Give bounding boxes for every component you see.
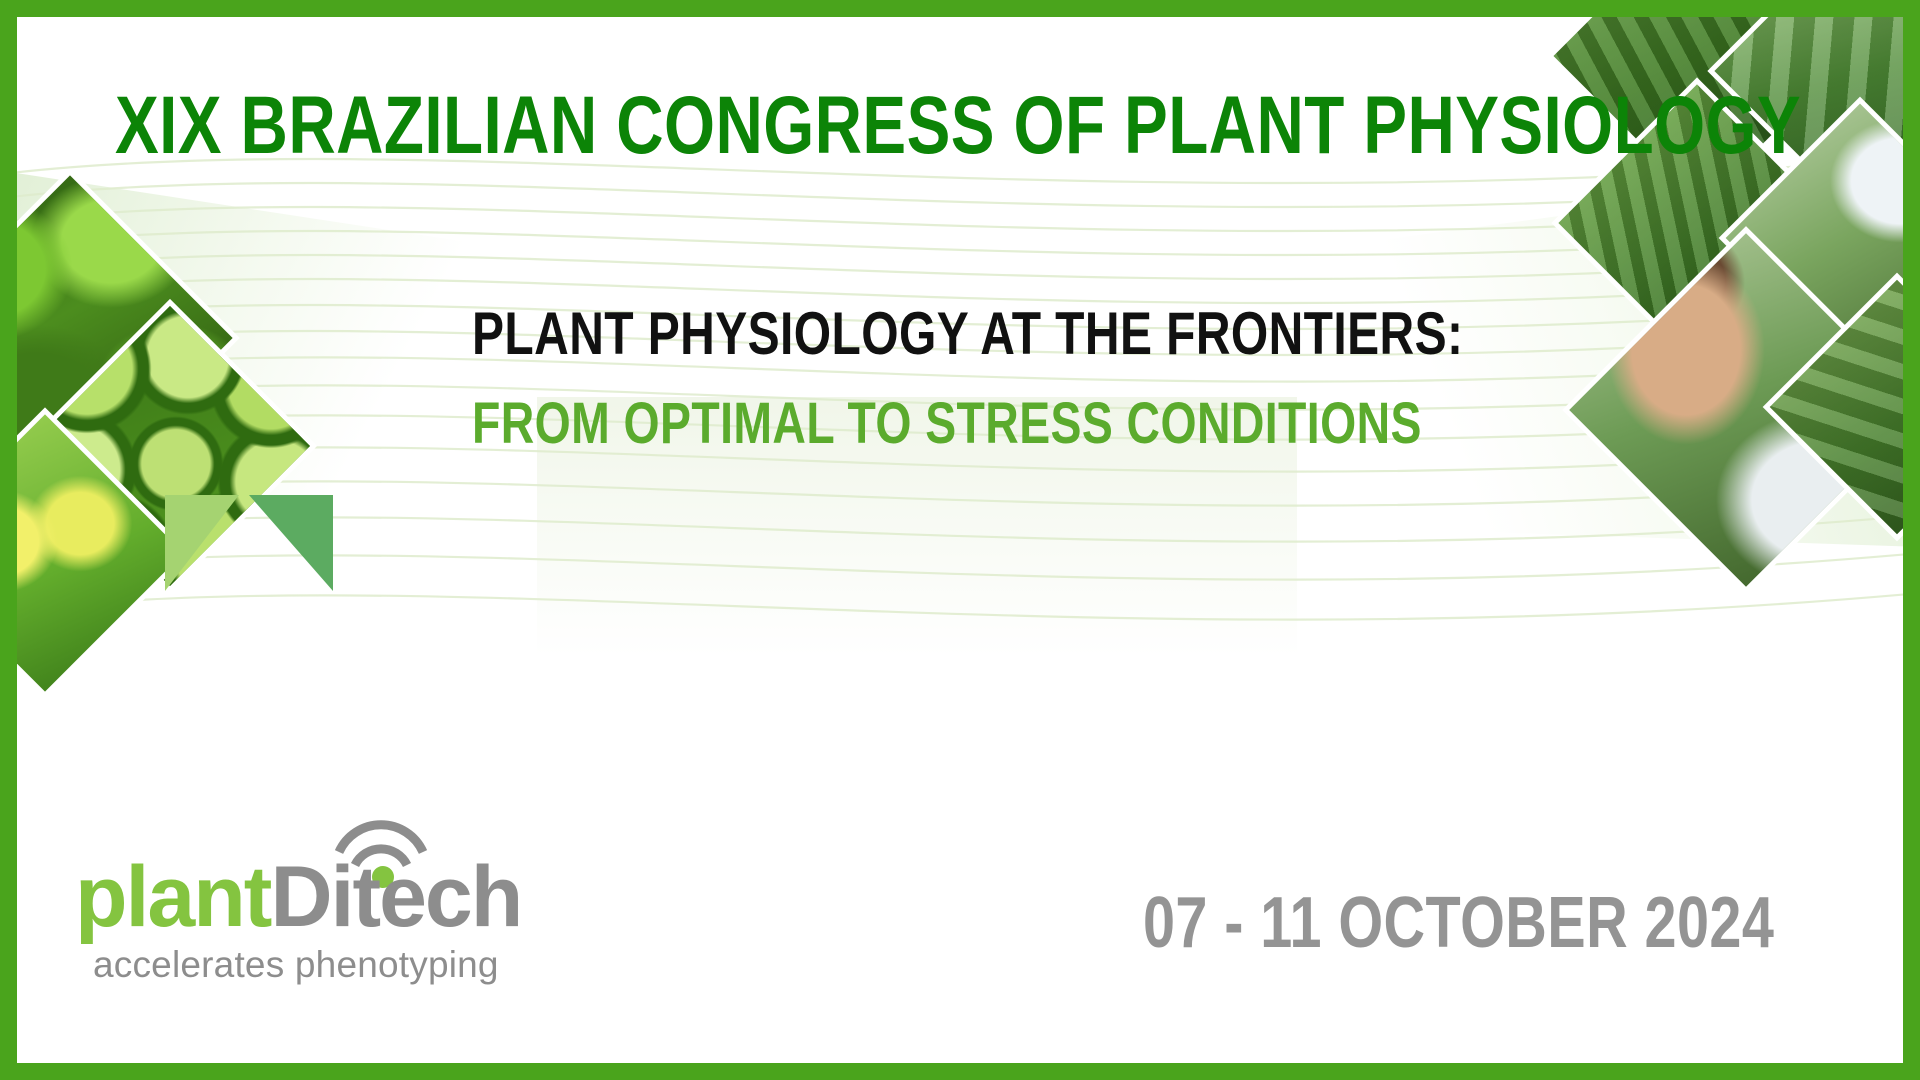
banner-canvas: XIX BRAZILIAN CONGRESS OF PLANT PHYSIOLO… xyxy=(17,17,1903,1063)
event-dates: 07 - 11 OCTOBER 2024 xyxy=(1143,887,1774,959)
logo-tagline: accelerates phenotyping xyxy=(93,944,499,986)
triangle-light-green xyxy=(165,495,239,591)
plantditech-logo: plantDitech accelerates phenotyping xyxy=(75,812,595,1002)
logo-word-ditech: Ditech xyxy=(270,849,521,945)
triangle-mid-green xyxy=(249,495,333,591)
logo-word-plant: plant xyxy=(75,849,270,945)
theme-line-2: FROM OPTIMAL TO STRESS CONDITIONS xyxy=(472,395,1422,453)
page-title: XIX BRAZILIAN CONGRESS OF PLANT PHYSIOLO… xyxy=(115,85,1801,167)
theme-line-1: PLANT PHYSIOLOGY AT THE FRONTIERS: xyxy=(472,304,1463,364)
conference-banner: XIX BRAZILIAN CONGRESS OF PLANT PHYSIOLO… xyxy=(0,0,1920,1080)
logo-wordmark: plantDitech xyxy=(75,854,521,940)
